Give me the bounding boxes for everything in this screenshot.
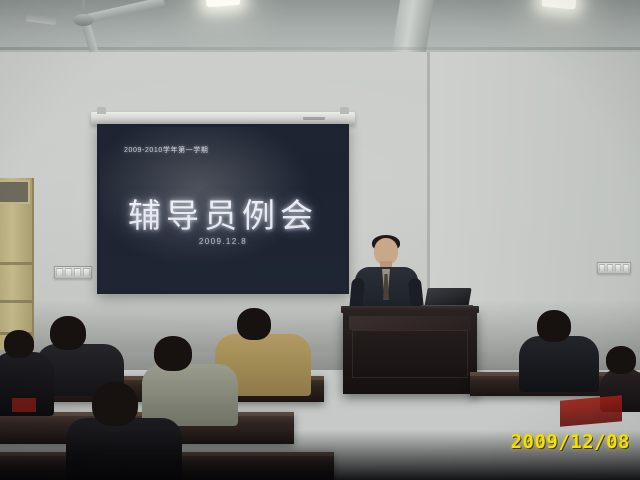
photograph: 2009-2010学年第一学期 辅导员例会 2009.12.8 bbox=[0, 0, 640, 480]
audience-body bbox=[519, 336, 599, 392]
audience-head bbox=[4, 330, 34, 358]
camera-date-stamp: 2009/12/08 bbox=[511, 431, 630, 453]
red-object-left bbox=[12, 398, 36, 412]
audience-member bbox=[66, 382, 182, 480]
wall-switch-plate-right[interactable] bbox=[597, 262, 631, 274]
fan-blade bbox=[87, 0, 165, 23]
audience-body bbox=[66, 418, 182, 480]
housing-logo bbox=[303, 117, 325, 120]
audience-head bbox=[537, 310, 571, 342]
switch-toggle[interactable] bbox=[615, 264, 621, 272]
switch-toggle[interactable] bbox=[623, 264, 629, 272]
housing-bracket bbox=[97, 107, 106, 114]
switch-toggle[interactable] bbox=[607, 264, 613, 272]
audience-head bbox=[606, 346, 636, 374]
slide-date-text: 2009.12.8 bbox=[100, 237, 346, 246]
door-transom-window bbox=[0, 180, 30, 204]
fan-hub bbox=[73, 14, 94, 26]
audience-head bbox=[92, 382, 138, 426]
podium-front-panel bbox=[352, 330, 468, 378]
red-object-right bbox=[560, 395, 622, 426]
door-rail bbox=[0, 300, 32, 303]
audience-head bbox=[154, 336, 192, 371]
wall-switch-plate-left[interactable] bbox=[54, 266, 92, 279]
housing-bracket bbox=[340, 107, 349, 114]
switch-toggle[interactable] bbox=[56, 268, 63, 277]
switch-toggle[interactable] bbox=[83, 268, 90, 277]
audience-head bbox=[50, 316, 86, 350]
slide-title-text: 辅导员例会 bbox=[100, 189, 346, 237]
audience-head bbox=[237, 308, 271, 340]
podium-highlight bbox=[349, 316, 471, 330]
switch-toggle[interactable] bbox=[599, 264, 605, 272]
projection-screen: 2009-2010学年第一学期 辅导员例会 2009.12.8 bbox=[97, 124, 349, 294]
slide-header-text: 2009-2010学年第一学期 bbox=[124, 145, 208, 155]
ceiling-fan-icon bbox=[40, 0, 170, 50]
door-rail bbox=[0, 262, 32, 265]
switch-toggle[interactable] bbox=[74, 268, 81, 277]
projected-slide: 2009-2010学年第一学期 辅导员例会 2009.12.8 bbox=[100, 127, 346, 291]
switch-toggle[interactable] bbox=[65, 268, 72, 277]
audience-member bbox=[519, 310, 601, 380]
